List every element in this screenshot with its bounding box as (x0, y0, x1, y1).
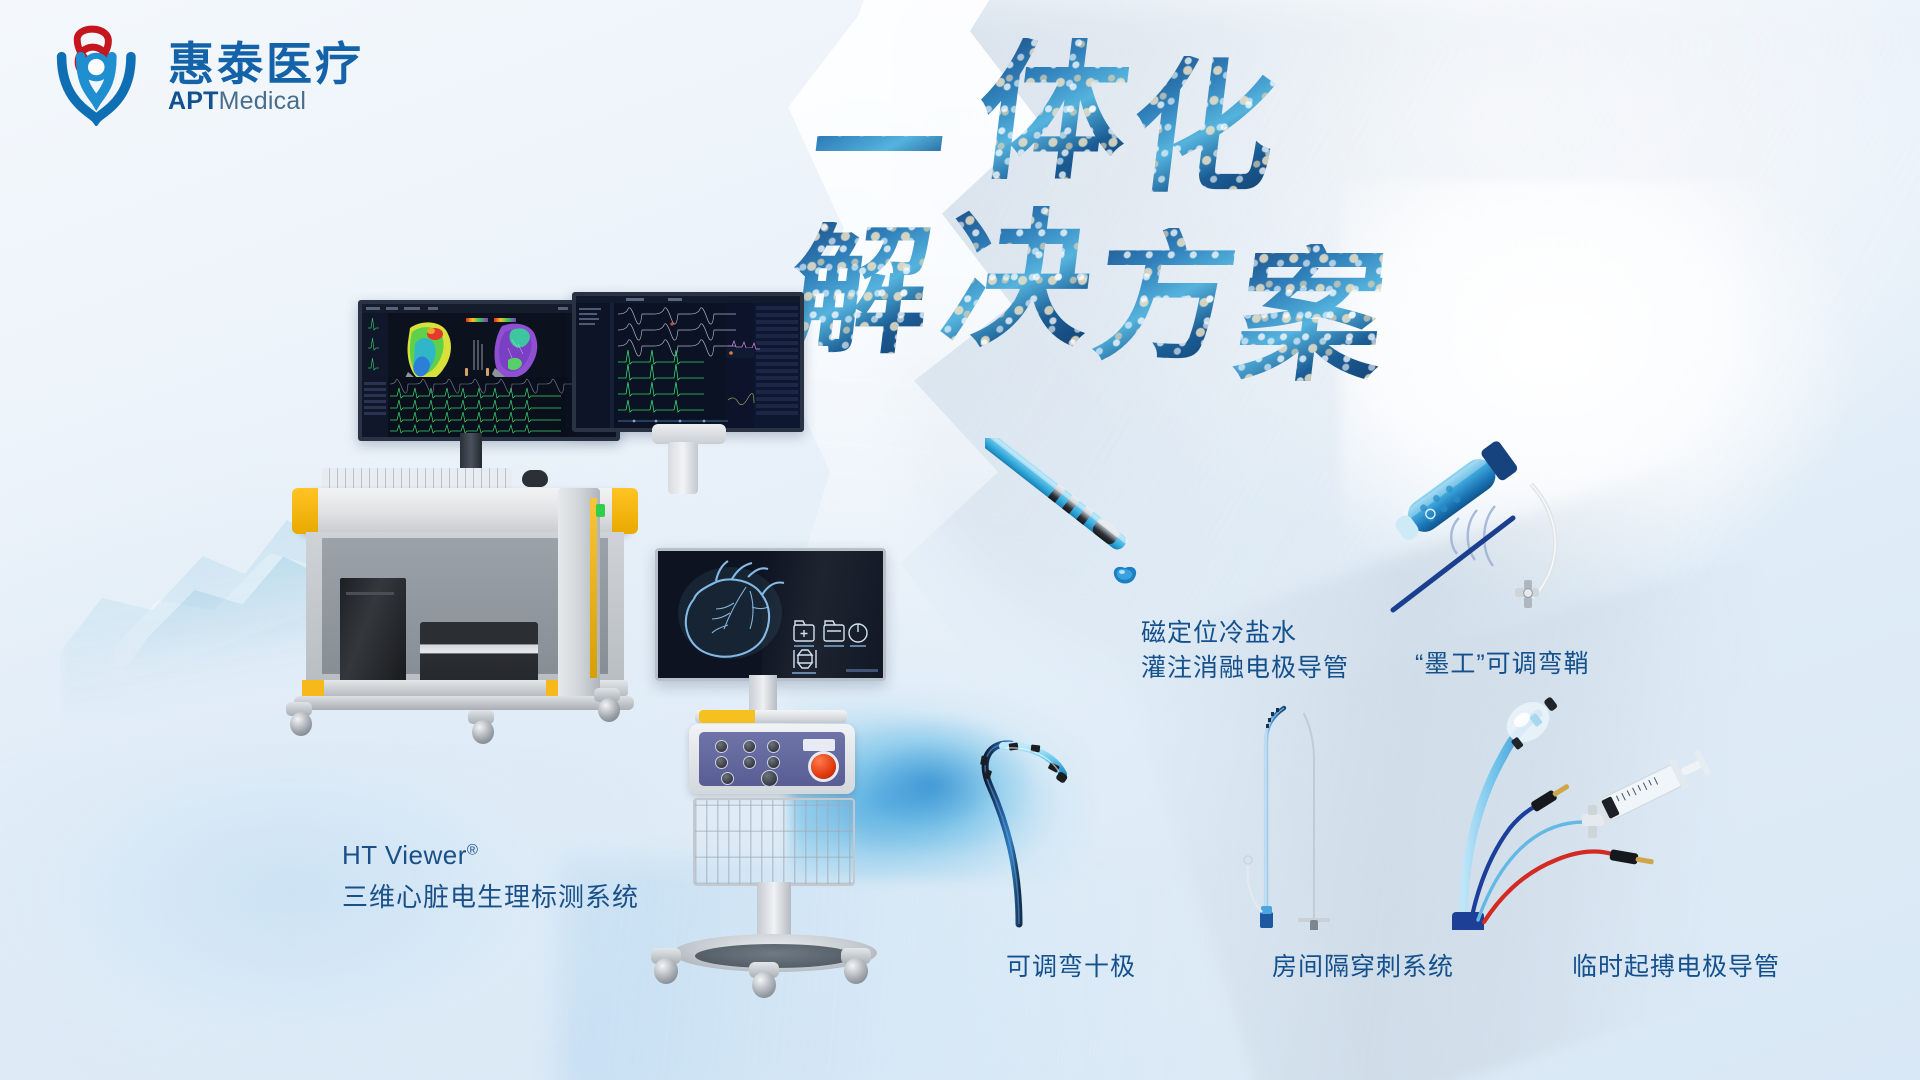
transseptal-system-illustration (1240, 690, 1360, 930)
headline-char-5: 决 (935, 206, 1101, 354)
brand-name-en-light: Medical (219, 87, 307, 115)
ablation-catheter-illustration (985, 438, 1185, 608)
label-ht-viewer-cn: 三维心脏电生理标测系统 (342, 880, 639, 916)
label-ablation-catheter: 磁定位冷盐水 灌注消融电极导管 (1141, 616, 1349, 685)
product-transseptal-system (1240, 690, 1360, 930)
power-status-led (596, 504, 605, 517)
trolley-tray-accent (699, 710, 755, 723)
registered-mark: ® (467, 841, 479, 858)
trolley-tray (695, 710, 847, 723)
stimulator-jack[interactable] (743, 740, 756, 753)
apt-medical-double-heart-logo-icon (46, 22, 150, 126)
product-ablation-catheter (985, 438, 1185, 608)
label-ht-viewer-en: HT Viewer® (342, 838, 639, 874)
brand-logo: 惠泰医疗 APTMedical (46, 22, 364, 126)
poster-canvas: 惠泰医疗 APTMedical 一 体 化 解 决 方 案 (0, 0, 1920, 1080)
cart-caster (468, 710, 494, 746)
cart-side-accent-strip (590, 498, 597, 678)
label-decapolar-catheter-line1: 可调弯十极 (1006, 950, 1136, 985)
stimulator-jack[interactable] (715, 740, 728, 753)
cart-worktop-accent-left (292, 488, 318, 534)
trolley-column (757, 882, 791, 940)
stimulator-jack[interactable] (767, 740, 780, 753)
recording-monitor-right (572, 292, 804, 432)
cart-shelf-accent-left (302, 680, 324, 696)
label-transseptal-system-line1: 房间隔穿刺系统 (1272, 950, 1454, 985)
label-ablation-catheter-line1: 磁定位冷盐水 (1141, 616, 1349, 651)
headline-char-7: 案 (1229, 244, 1393, 390)
cart-base (294, 696, 634, 710)
label-decapolar-catheter: 可调弯十极 (1006, 950, 1136, 985)
stimulator-jack[interactable] (715, 756, 728, 769)
workstation-keyboard[interactable] (322, 468, 512, 490)
stimulator-jack[interactable] (743, 756, 756, 769)
label-pacing-catheter-line1: 临时起搏电极导管 (1572, 950, 1780, 985)
stimulator-ground-jack[interactable] (721, 772, 734, 785)
monitor-arm-right (652, 424, 726, 444)
bedside-display-trolley (645, 548, 925, 1038)
label-ht-viewer: HT Viewer® 三维心脏电生理标测系统 (342, 838, 639, 916)
steerable-sheath-illustration (1385, 440, 1675, 640)
label-ablation-catheter-line2: 灌注消融电极导管 (1141, 651, 1349, 686)
label-steerable-sheath: “墨工”可调弯鞘 (1415, 647, 1590, 682)
pc-tower (340, 578, 406, 688)
trolley-caster (651, 946, 681, 986)
display-neck (749, 675, 777, 713)
brand-name-en: APTMedical (168, 89, 364, 114)
label-steerable-sheath-line1: “墨工”可调弯鞘 (1415, 647, 1590, 682)
trolley-caster (841, 946, 871, 986)
stimulator-red-button[interactable] (811, 754, 836, 779)
trolley-basket (693, 798, 855, 886)
label-transseptal-system: 房间隔穿刺系统 (1272, 950, 1454, 985)
headline-calligraphy: 一 体 化 解 决 方 案 (960, 32, 1640, 362)
bedside-display (655, 548, 886, 681)
headline-char-3: 化 (1123, 56, 1285, 200)
cart-caster (286, 702, 312, 738)
monitor-arm-column (668, 442, 698, 494)
label-ht-viewer-name: HT Viewer (342, 840, 467, 870)
product-decapolar-catheter (955, 718, 1115, 928)
product-steerable-sheath (1385, 440, 1675, 640)
headline-char-1: 一 (804, 84, 952, 216)
workstation-mouse[interactable] (522, 470, 548, 487)
decapolar-catheter-illustration (955, 718, 1115, 928)
laser-printer (420, 622, 538, 686)
recording-monitor-right-screen (576, 296, 800, 428)
headline-char-6: 方 (1087, 228, 1244, 368)
headline-char-4: 解 (781, 222, 938, 362)
stimulator-badge (803, 739, 835, 751)
pacing-catheter-illustration (1450, 680, 1750, 930)
brand-name-cn: 惠泰医疗 (168, 41, 364, 87)
brand-name-en-bold: APT (168, 87, 219, 115)
trolley-caster (749, 960, 779, 1000)
label-pacing-catheter: 临时起搏电极导管 (1572, 950, 1780, 985)
ep-stimulator (689, 724, 855, 794)
stimulator-coax-connector[interactable] (761, 770, 778, 787)
cart-caster (594, 688, 620, 724)
cart-worktop-accent-right (612, 488, 638, 534)
stimulator-jack[interactable] (767, 756, 780, 769)
product-temporary-pacing-catheter (1450, 680, 1750, 930)
display-glass-reflection (762, 551, 884, 678)
headline-char-2: 体 (969, 38, 1137, 188)
stimulator-front-panel (699, 732, 845, 786)
